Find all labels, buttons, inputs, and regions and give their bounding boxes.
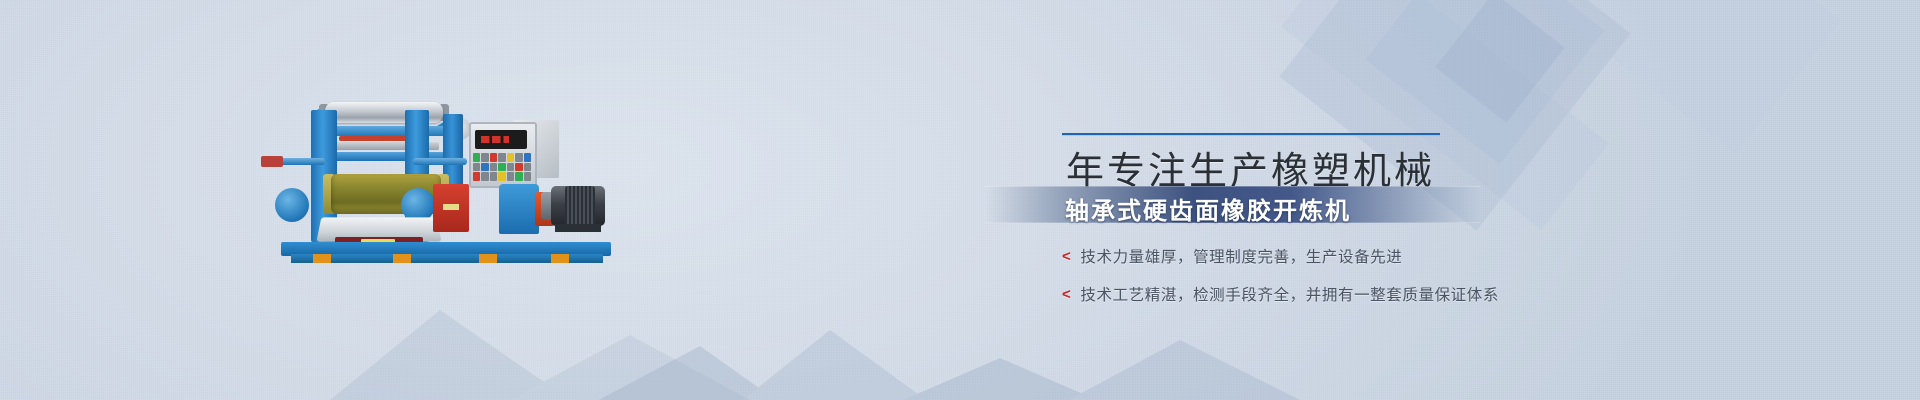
machine-motor-base [555, 224, 601, 232]
headline-divider [1062, 133, 1440, 136]
machine-arm-right [413, 158, 467, 165]
feature-item-2: < 技术工艺精湛，检测手段齐全，并拥有一整套质量保证体系 [1062, 283, 1682, 305]
machine-arm-left-cap [261, 156, 283, 167]
machine-red-box-label [443, 204, 459, 210]
decorative-mountains-left [330, 250, 750, 400]
chevron-right-icon: < [1062, 249, 1071, 264]
machine-gearbox [499, 184, 539, 234]
machine-panel-buttons [473, 153, 531, 181]
hero-banner: 年专注生产橡塑机械 轴承式硬齿面橡胶开炼机 < 技术力量雄厚，管理制度完善，生产… [0, 0, 1920, 400]
feature-item-1: < 技术力量雄厚，管理制度完善，生产设备先进 [1062, 245, 1682, 267]
chevron-right-icon: < [1062, 287, 1071, 302]
product-image-rubber-mixing-mill [283, 96, 623, 261]
machine-skid-1 [313, 254, 331, 263]
machine-panel-display [475, 130, 527, 149]
feature-item-2-text: 技术工艺精湛，检测手段齐全，并拥有一整套质量保证体系 [1080, 283, 1499, 305]
machine-bearing-left [275, 188, 309, 222]
product-title-text: 轴承式硬齿面橡胶开炼机 [1065, 191, 1565, 226]
machine-skid-4 [551, 254, 569, 263]
decorative-shape-3 [1435, 0, 1564, 123]
machine-skid-3 [479, 254, 497, 263]
feature-list: < 技术力量雄厚，管理制度完善，生产设备先进 < 技术工艺精湛，检测手段齐全，并… [1062, 245, 1682, 321]
feature-item-1-text: 技术力量雄厚，管理制度完善，生产设备先进 [1080, 245, 1402, 267]
decorative-shape-5 [1499, 0, 1840, 154]
machine-motor-fins [565, 186, 595, 226]
machine-skid-2 [393, 254, 411, 263]
